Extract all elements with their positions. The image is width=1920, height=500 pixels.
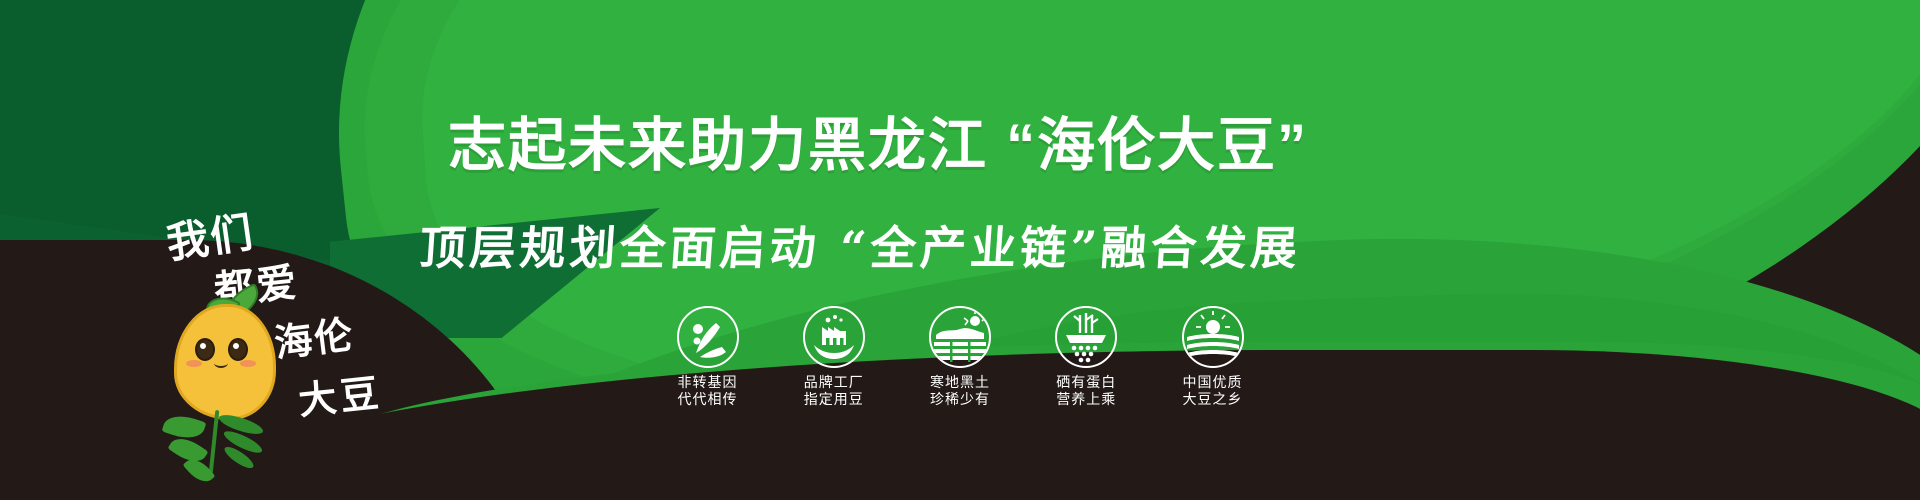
black-soil-field-icon	[929, 306, 991, 368]
mascot-blush-left	[186, 360, 202, 367]
feature-item: 硒有蛋白 营养上乘	[1034, 306, 1139, 409]
mascot-blush-right	[240, 360, 256, 367]
farmland-sunrise-icon	[1182, 306, 1244, 368]
mascot-eye-left	[195, 338, 215, 361]
feature-item: 品牌工厂 指定用豆	[781, 306, 886, 409]
feature-caption: 中国优质 大豆之乡	[1183, 375, 1243, 409]
feature-caption-line1: 品牌工厂	[804, 375, 864, 392]
mascot-stem	[209, 410, 220, 474]
feature-item: 中国优质 大豆之乡	[1160, 306, 1265, 409]
feature-caption-line1: 非转基因	[678, 375, 738, 392]
soybean-sprout-icon	[677, 306, 739, 368]
feature-list: 非转基因 代代相传	[655, 306, 1265, 409]
feature-caption-line2: 营养上乘	[1056, 392, 1116, 409]
feature-item: 非转基因 代代相传	[655, 306, 760, 409]
feature-item: 寒地黑土 珍稀少有	[908, 306, 1013, 409]
feature-caption-line2: 大豆之乡	[1183, 392, 1243, 409]
banner-content: 志起未来助力黑龙江 “海伦大豆” 顶层规划全面启动 “全产业链”融合发展 非转基…	[0, 0, 1920, 500]
logo-text-line-4: 大豆	[295, 362, 384, 425]
mascot-mouth	[214, 358, 228, 368]
feature-caption-line1: 中国优质	[1183, 375, 1243, 392]
feature-caption: 硒有蛋白 营养上乘	[1056, 375, 1116, 409]
factory-in-hands-icon	[803, 306, 865, 368]
selenium-protein-icon	[1055, 306, 1117, 368]
feature-caption-line2: 代代相传	[678, 392, 738, 409]
brand-logo: 我们 都爱 海伦 大豆	[148, 198, 418, 488]
feature-caption-line1: 寒地黑土	[930, 375, 990, 392]
feature-caption: 寒地黑土 珍稀少有	[930, 375, 990, 409]
feature-caption: 品牌工厂 指定用豆	[804, 375, 864, 409]
soybean-promo-banner: 志起未来助力黑龙江 “海伦大豆” 顶层规划全面启动 “全产业链”融合发展 非转基…	[0, 0, 1920, 500]
feature-caption-line1: 硒有蛋白	[1056, 375, 1116, 392]
feature-caption: 非转基因 代代相传	[678, 375, 738, 409]
banner-title: 志起未来助力黑龙江 “海伦大豆”	[448, 98, 1308, 182]
feature-caption-line2: 珍稀少有	[930, 392, 990, 409]
banner-subtitle: 顶层规划全面启动 “全产业链”融合发展	[418, 212, 1304, 278]
soybean-mascot	[162, 286, 292, 476]
feature-caption-line2: 指定用豆	[804, 392, 864, 409]
mascot-eye-right	[228, 338, 248, 361]
